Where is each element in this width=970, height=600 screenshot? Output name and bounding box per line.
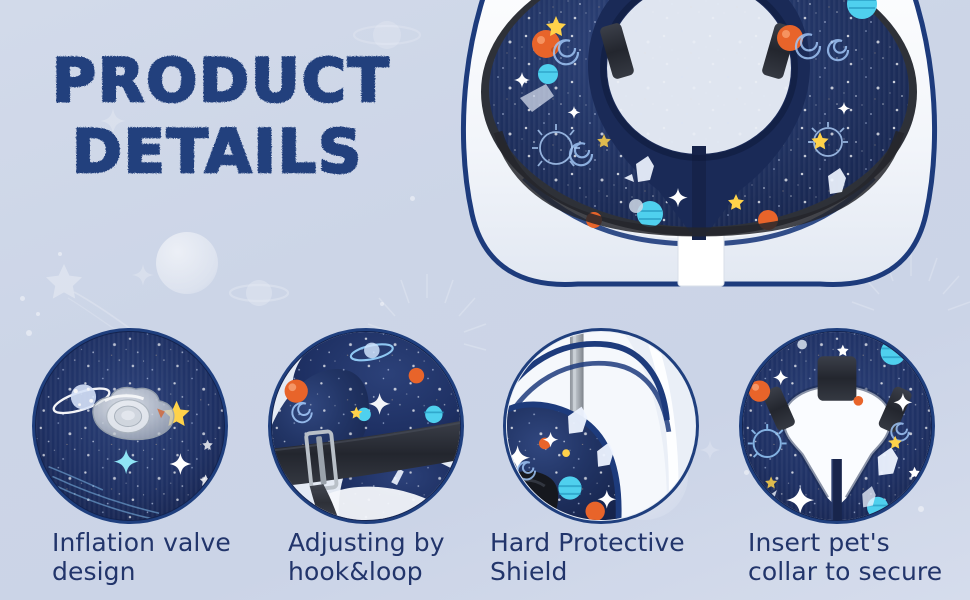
caption-line-2: Shield xyxy=(490,558,740,587)
sparkle-dots-icon xyxy=(410,196,415,201)
caption-line-1: Insert pet's xyxy=(748,529,970,558)
sparkle-dots-icon xyxy=(58,252,62,256)
shooting-star-icon xyxy=(44,258,164,340)
four-point-star-icon xyxy=(132,264,154,286)
detail-thumb-hook-and-loop[interactable] xyxy=(268,328,464,524)
hero-product-image xyxy=(428,0,970,312)
caption-line-2: design xyxy=(52,558,292,587)
caption-line-1: Inflation valve xyxy=(52,529,292,558)
ringed-planet-icon xyxy=(228,272,290,314)
moon-circle-icon xyxy=(156,232,218,294)
caption-protective-shield: Hard Protective Shield xyxy=(490,529,740,586)
sparkle-dots-icon xyxy=(36,312,40,316)
caption-collar-insert: Insert pet's collar to secure xyxy=(748,529,970,586)
sparkle-dots-icon xyxy=(918,506,924,512)
sparkle-dots-icon xyxy=(20,296,25,301)
caption-inflation-valve: Inflation valve design xyxy=(52,529,292,586)
caption-line-1: Hard Protective xyxy=(490,529,740,558)
sparkle-dots-icon xyxy=(380,302,384,306)
sparkle-dots-icon xyxy=(744,470,749,475)
product-details-banner: PRODUCT DETAILS xyxy=(0,0,970,600)
caption-line-2: collar to secure xyxy=(748,558,970,587)
detail-thumb-collar-insert[interactable] xyxy=(739,328,935,524)
four-point-star-icon xyxy=(700,440,720,460)
page-title-line-1: PRODUCT xyxy=(52,52,392,111)
sparkle-dots-icon xyxy=(26,330,32,336)
page-title: PRODUCT DETAILS xyxy=(52,52,392,182)
detail-thumb-inflation-valve[interactable] xyxy=(32,328,228,524)
detail-thumb-protective-shield[interactable] xyxy=(503,328,699,524)
page-title-line-2: DETAILS xyxy=(72,123,392,182)
